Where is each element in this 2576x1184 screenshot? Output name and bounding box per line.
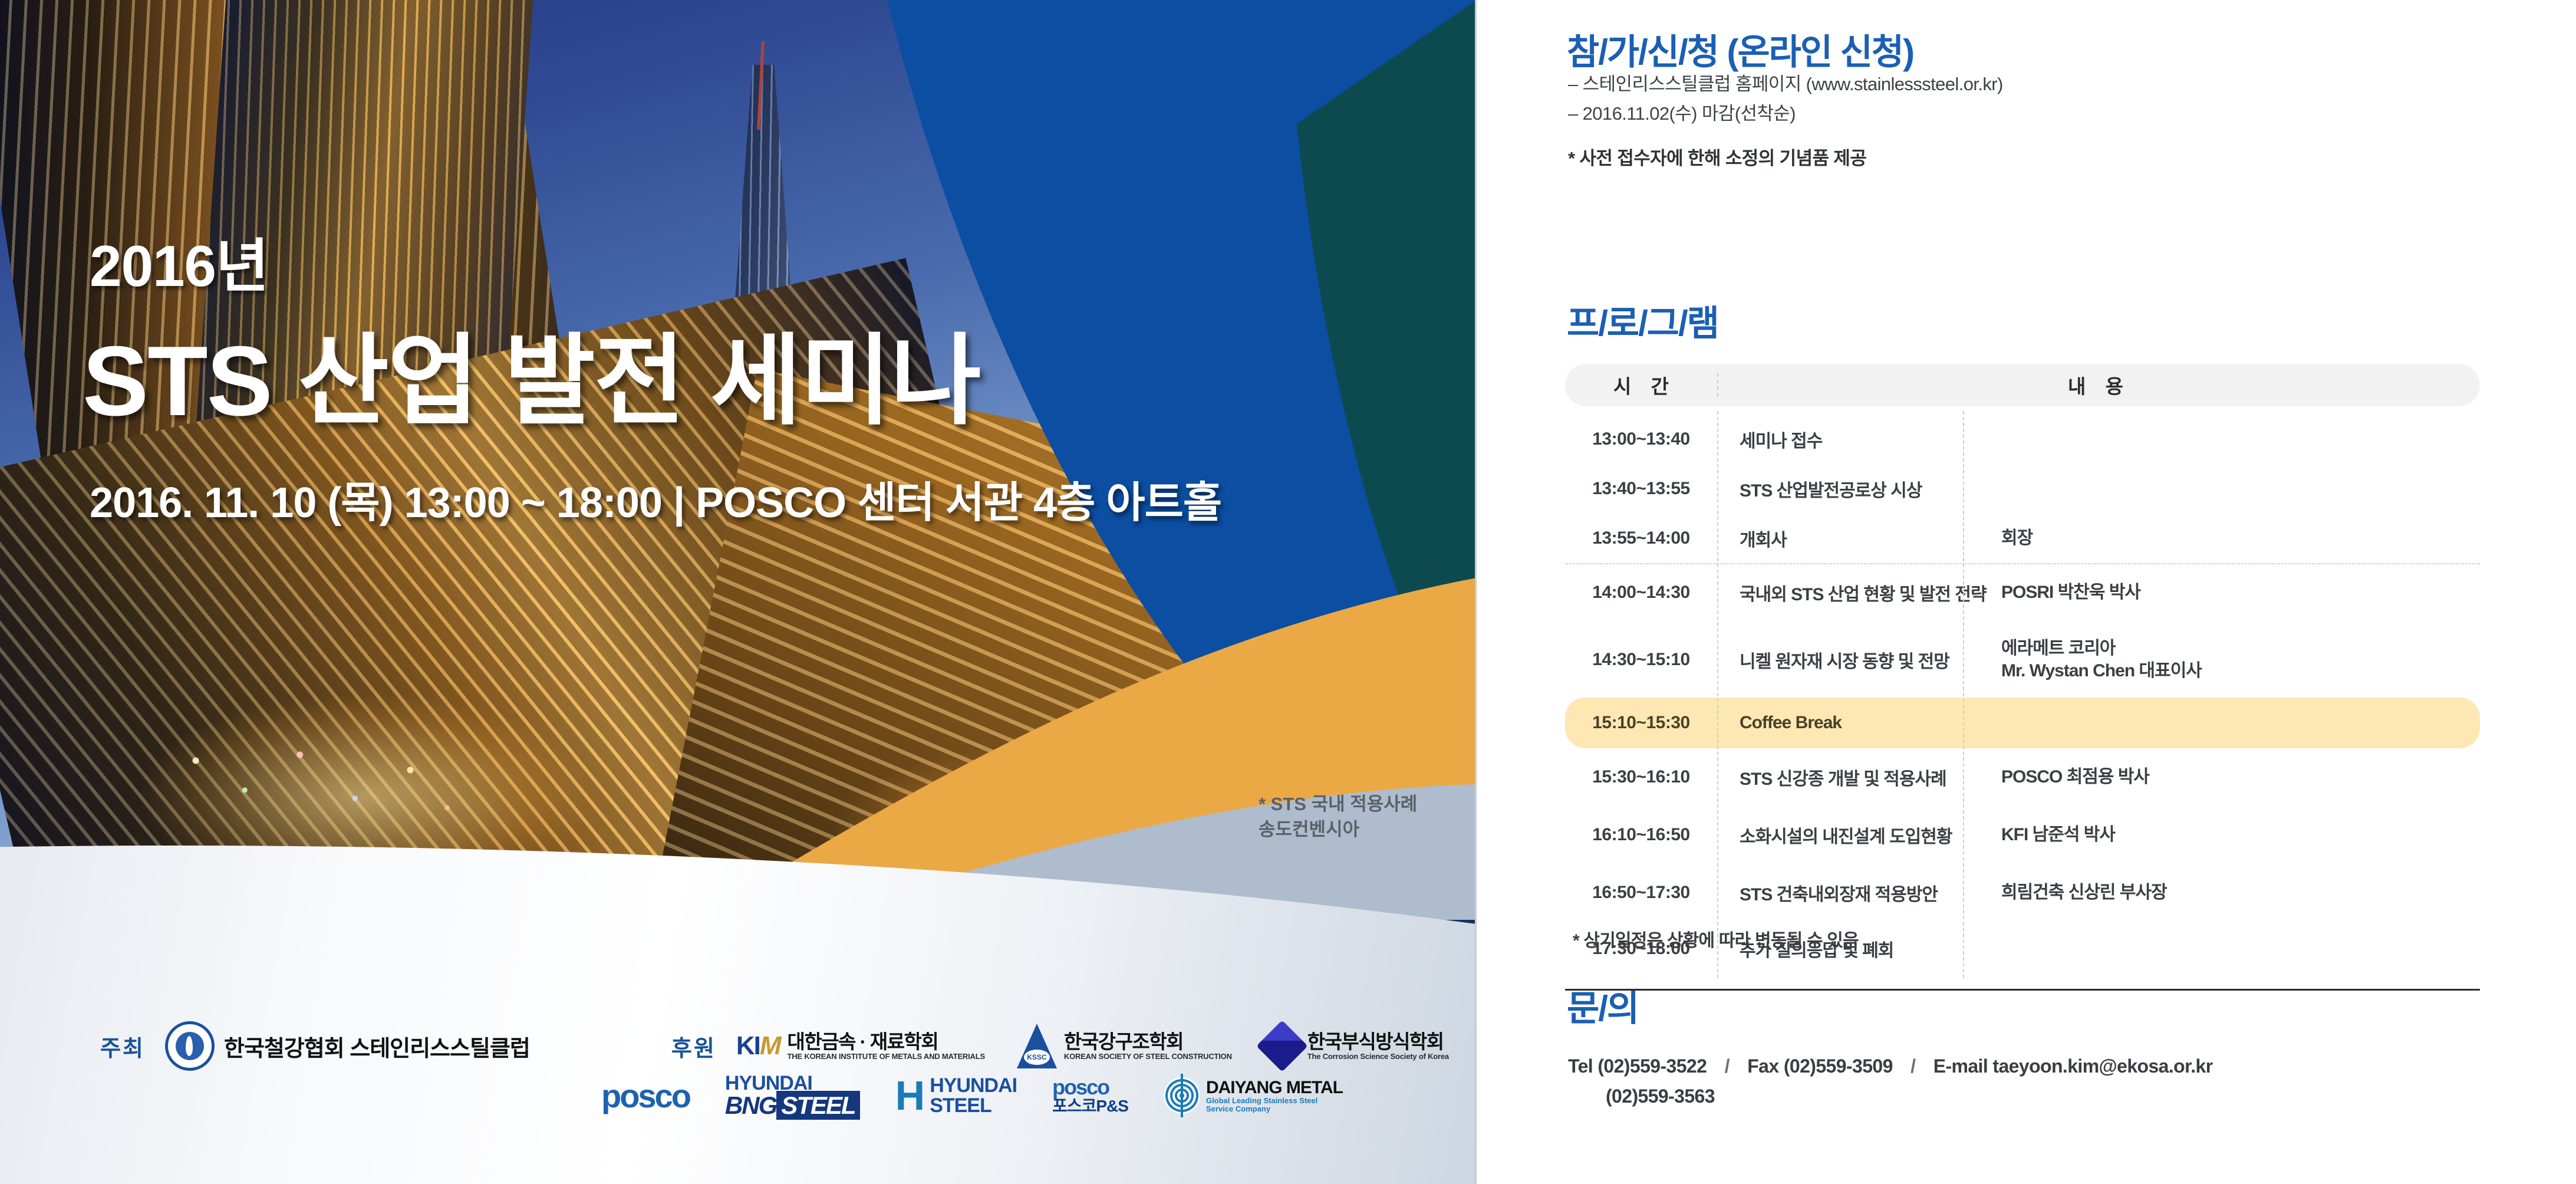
row-time: 13:55~14:00 [1565, 528, 1717, 548]
corrosion-diamond-icon [1256, 1020, 1308, 1072]
host-role-label: 주최 [100, 1030, 145, 1063]
hyundai-top-label: HYUNDAI [930, 1076, 1017, 1096]
row-time: 13:00~13:40 [1565, 429, 1717, 449]
poster-year: 2016년 [90, 219, 268, 303]
table-bottom-rule [1565, 989, 2480, 991]
kim-society-name-en: THE KOREAN INSTITUTE OF METALS AND MATER… [787, 1053, 984, 1061]
row-time: 14:00~14:30 [1565, 583, 1717, 603]
row-title: 국내외 STS 산업 현황 및 발전 전략 [1717, 580, 1988, 606]
photo-caption: * STS 국내 적용사례 송도컨벤시아 [1259, 792, 1471, 843]
row-title: STS 건축내외장재 적용방안 [1717, 880, 1988, 906]
kim-mark-icon: KIM [736, 1031, 780, 1061]
table-row: 16:50~17:30STS 건축내외장재 적용방안희림건축 신상린 부사장 [1565, 864, 2480, 922]
row-time: 15:10~15:30 [1565, 713, 1717, 733]
brand-logos: posco HYUNDAI BNGSTEEL H HYUNDAI STEEL p [601, 1073, 1343, 1118]
contact-separator-1: / [1712, 1055, 1742, 1077]
table-row: 13:55~14:00개회사회장 [1565, 514, 2480, 563]
sponsor-role-label: 후원 [671, 1030, 716, 1063]
table-row: 14:00~14:30국내외 STS 산업 현황 및 발전 전략POSRI 박찬… [1565, 563, 2480, 622]
email-value[interactable]: taeyoon.kim@ekosa.or.kr [1992, 1055, 2212, 1077]
poster-title: STS 산업 발전 세미나 [83, 301, 980, 444]
table-row: 13:40~13:55STS 산업발전공로상 시상 [1565, 464, 2480, 514]
poster-left: 2016년 STS 산업 발전 세미나 2016. 11. 10 (목) 13:… [0, 0, 1477, 1184]
row-time: 13:40~13:55 [1565, 479, 1717, 499]
poster-datetime-venue: 2016. 11. 10 (목) 13:00 ~ 18:00 | POSCO 센… [90, 468, 1221, 529]
apply-note: * 사전 접수자에 한해 소정의 기념품 제공 [1568, 144, 2003, 173]
logo-bar: 주최 한국철강협회 스테인리스스틸클럽 후원 KIM 대한금속 · 재료학회 T… [0, 1014, 1477, 1184]
kosa-seal-icon [165, 1021, 215, 1071]
bng-label: BNG [725, 1091, 776, 1119]
row-title: Coffee Break [1717, 713, 1988, 733]
column-header-time: 시 간 [1565, 371, 1717, 399]
row-title: STS 신강종 개발 및 적용사례 [1717, 764, 1988, 790]
table-row: 15:10~15:30Coffee Break [1565, 698, 2480, 748]
row-time: 16:10~16:50 [1565, 825, 1717, 845]
table-row: 15:30~16:10STS 신강종 개발 및 적용사례POSCO 최점용 박사 [1565, 748, 2480, 806]
program-table: 시 간 내 용 13:00~13:40세미나 접수13:40~13:55STS … [1565, 364, 2480, 976]
table-row: 16:10~16:50소화시설의 내진설계 도입현황KFI 남준석 박사 [1565, 806, 2480, 864]
program-table-header: 시 간 내 용 [1565, 364, 2480, 406]
kim-society-name-kr: 대한금속 · 재료학회 [787, 1032, 984, 1053]
daiyang-tagline-1: Global Leading Stainless Steel [1206, 1097, 1343, 1105]
row-title: 니켈 원자재 시장 동향 및 전망 [1717, 647, 1988, 673]
hyundai-h-icon: H [895, 1079, 925, 1112]
society-logos: KIM 대한금속 · 재료학회 THE KOREAN INSTITUTE OF … [736, 1024, 1449, 1068]
table-row: 13:00~13:40세미나 접수 [1565, 415, 2480, 464]
daiyang-metal-logo: DAIYANG METAL Global Leading Stainless S… [1164, 1077, 1343, 1114]
contact-block: Tel (02)559-3522 / Fax (02)559-3509 / E-… [1568, 1055, 2213, 1107]
row-title: STS 산업발전공로상 시상 [1717, 476, 1988, 502]
corrosion-society-name-kr: 한국부식방식학회 [1307, 1032, 1449, 1053]
contact-heading: 문/의 [1567, 980, 1638, 1031]
kssc-society-name-kr: 한국강구조학회 [1064, 1032, 1232, 1053]
pns-top-label: posco [1052, 1077, 1128, 1098]
host-org-label: 한국철강협회 스테인리스스틸클럽 [224, 1030, 530, 1063]
bng-top-label: HYUNDAI [725, 1073, 860, 1093]
daiyang-tagline-2: Service Company [1206, 1105, 1343, 1113]
pns-bottom-label: 포스코P&S [1052, 1098, 1128, 1114]
row-time: 15:30~16:10 [1565, 767, 1717, 787]
apply-heading: 참/가/신/청 (온라인 신청) [1567, 24, 1913, 75]
apply-item-deadline: – 2016.11.02(수) 마감(선착순) [1568, 99, 2003, 129]
bng-steel-label: STEEL [776, 1091, 859, 1120]
hyundai-bottom-label: STEEL [930, 1096, 1017, 1116]
poster-text-layer: 2016년 STS 산업 발전 세미나 2016. 11. 10 (목) 13:… [0, 0, 1477, 1184]
row-speaker: 희림건축 신상린 부사장 [1988, 882, 2480, 904]
daiyang-target-icon [1164, 1077, 1200, 1114]
email-label: E-mail [1933, 1055, 1988, 1077]
corrosion-society-name-en: The Corrosion Science Society of Korea [1307, 1053, 1449, 1061]
posco-logo: posco [601, 1077, 690, 1115]
tel-label: Tel [1568, 1055, 1593, 1077]
photo-caption-line2: 송도컨벤시아 [1259, 817, 1471, 843]
kssc-triangle-icon [1017, 1024, 1057, 1068]
row-time: 14:30~15:10 [1565, 650, 1717, 670]
tel-value: (02)559-3522 [1597, 1055, 1707, 1077]
row-speaker: POSRI 박찬욱 박사 [1988, 581, 2480, 604]
corrosion-society-logo: 한국부식방식학회 The Corrosion Science Society o… [1264, 1028, 1449, 1064]
row-title: 세미나 접수 [1717, 426, 1988, 452]
apply-item-homepage: – 스테인리스스틸클럽 홈페이지 (www.stainlesssteel.or.… [1568, 70, 2003, 99]
hyundai-steel-logo: H HYUNDAI STEEL [895, 1076, 1017, 1116]
poster-page: 2016년 STS 산업 발전 세미나 2016. 11. 10 (목) 13:… [0, 0, 2576, 1184]
brand-row: posco HYUNDAI BNGSTEEL H HYUNDAI STEEL p [601, 1073, 1343, 1118]
row-speaker: KFI 남준석 박사 [1988, 824, 2480, 846]
table-rule-content-col [1963, 411, 1964, 978]
table-section-divider [1565, 563, 2480, 564]
program-table-body: 13:00~13:40세미나 접수13:40~13:55STS 산업발전공로상 … [1565, 415, 2480, 976]
host-row: 주최 한국철강협회 스테인리스스틸클럽 후원 KIM 대한금속 · 재료학회 T… [100, 1021, 1449, 1071]
row-speaker: 회장 [1988, 527, 2480, 550]
fax-label: Fax [1747, 1055, 1778, 1077]
table-rule-time-col [1717, 411, 1718, 978]
kssc-society-name-en: KOREAN SOCIETY OF STEEL CONSTRUCTION [1064, 1053, 1232, 1061]
tel-value-secondary: (02)559-3563 [1606, 1086, 2213, 1107]
table-row: 14:30~15:10니켈 원자재 시장 동향 및 전망에라메트 코리아Mr. … [1565, 622, 2480, 698]
row-time: 16:50~17:30 [1565, 883, 1717, 903]
kim-society-logo: KIM 대한금속 · 재료학회 THE KOREAN INSTITUTE OF … [736, 1031, 985, 1061]
program-heading: 프/로/그/램 [1567, 295, 1718, 346]
hyundai-bng-steel-logo: HYUNDAI BNGSTEEL [725, 1073, 860, 1118]
row-speaker: 에라메트 코리아Mr. Wystan Chen 대표이사 [1988, 637, 2480, 683]
contact-line-1: Tel (02)559-3522 / Fax (02)559-3509 / E-… [1568, 1055, 2213, 1077]
fax-value: (02)559-3509 [1784, 1055, 1893, 1077]
header-column-separator [1717, 373, 1718, 397]
posco-pns-logo: posco 포스코P&S [1052, 1077, 1128, 1114]
row-title: 소화시설의 내진설계 도입현황 [1717, 822, 1988, 848]
row-speaker: POSCO 최점용 박사 [1988, 766, 2480, 788]
daiyang-name: DAIYANG METAL [1206, 1078, 1343, 1097]
apply-items: – 스테인리스스틸클럽 홈페이지 (www.stainlesssteel.or.… [1568, 70, 2003, 174]
row-title: 개회사 [1717, 525, 1988, 551]
program-footnote: * 상기일정은 상황에 따라 변동될 수 있음 [1573, 926, 1859, 952]
kosa-logo: 한국철강협회 스테인리스스틸클럽 [165, 1021, 530, 1071]
column-header-content: 내 용 [1717, 371, 2480, 399]
contact-separator-2: / [1898, 1055, 1928, 1077]
kssc-society-logo: 한국강구조학회 KOREAN SOCIETY OF STEEL CONSTRUC… [1017, 1024, 1232, 1068]
photo-caption-line1: * STS 국내 적용사례 [1259, 792, 1471, 817]
